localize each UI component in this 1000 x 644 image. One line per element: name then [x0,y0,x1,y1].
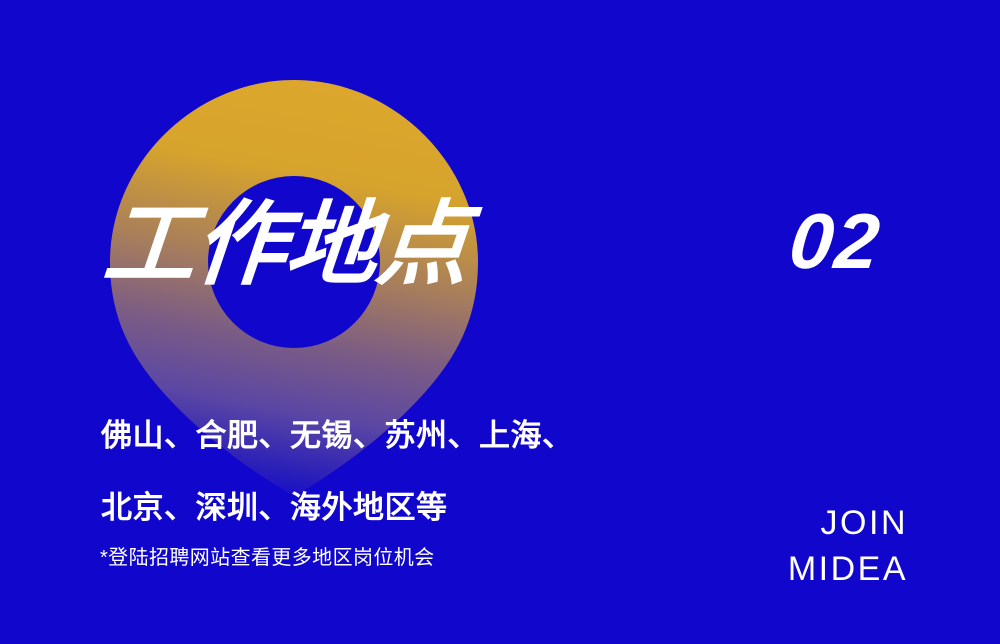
footnote-text: *登陆招聘网站查看更多地区岗位机会 [100,545,435,571]
locations-line-1: 佛山、合肥、无锡、苏州、上海、 [101,400,574,472]
slide-canvas: 工作地点 02 佛山、合肥、无锡、苏州、上海、 北京、深圳、海外地区等 *登陆招… [0,0,1000,644]
section-number: 02 [786,202,885,280]
locations-line-2: 北京、深圳、海外地区等 [101,472,574,544]
wordmark-line-join: JOIN [788,500,908,546]
join-midea-wordmark: JOIN MIDEA [788,500,908,592]
page-title: 工作地点 [100,199,472,291]
wordmark-line-midea: MIDEA [788,546,908,592]
locations-list: 佛山、合肥、无锡、苏州、上海、 北京、深圳、海外地区等 [101,400,574,544]
